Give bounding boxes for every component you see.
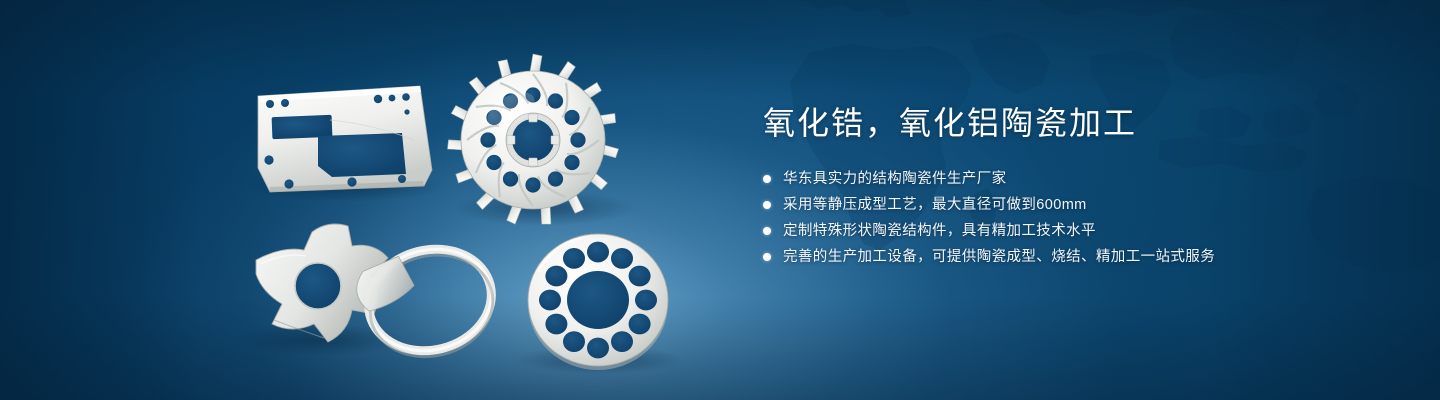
bullet-dot-icon — [763, 175, 771, 183]
feature-item: 完善的生产加工设备，可提供陶瓷成型、烧结、精加工一站式服务 — [763, 246, 1363, 268]
part-perforated-ring — [528, 234, 668, 370]
feature-item: 华东具实力的结构陶瓷件生产厂家 — [763, 168, 1363, 190]
promo-banner: 氧化锆，氧化铝陶瓷加工 华东具实力的结构陶瓷件生产厂家 采用等静压成型工艺，最大… — [0, 0, 1440, 400]
ceramic-products-image — [0, 0, 740, 400]
feature-item: 采用等静压成型工艺，最大直径可做到600mm — [763, 194, 1363, 216]
feature-item: 定制特殊形状陶瓷结构件，具有精加工技术水平 — [763, 220, 1363, 242]
part-flat-plate — [258, 86, 432, 192]
feature-text: 定制特殊形状陶瓷结构件，具有精加工技术水平 — [783, 220, 1096, 242]
feature-text: 采用等静压成型工艺，最大直径可做到600mm — [783, 194, 1087, 216]
bullet-dot-icon — [763, 227, 771, 235]
bullet-dot-icon — [763, 253, 771, 261]
feature-text: 完善的生产加工设备，可提供陶瓷成型、烧结、精加工一站式服务 — [783, 246, 1215, 268]
banner-copy: 氧化锆，氧化铝陶瓷加工 华东具实力的结构陶瓷件生产厂家 采用等静压成型工艺，最大… — [763, 104, 1363, 272]
banner-headline: 氧化锆，氧化铝陶瓷加工 — [763, 104, 1363, 142]
feature-text: 华东具实力的结构陶瓷件生产厂家 — [783, 168, 1007, 190]
bullet-dot-icon — [763, 201, 771, 209]
feature-list: 华东具实力的结构陶瓷件生产厂家 采用等静压成型工艺，最大直径可做到600mm 定… — [763, 168, 1363, 268]
